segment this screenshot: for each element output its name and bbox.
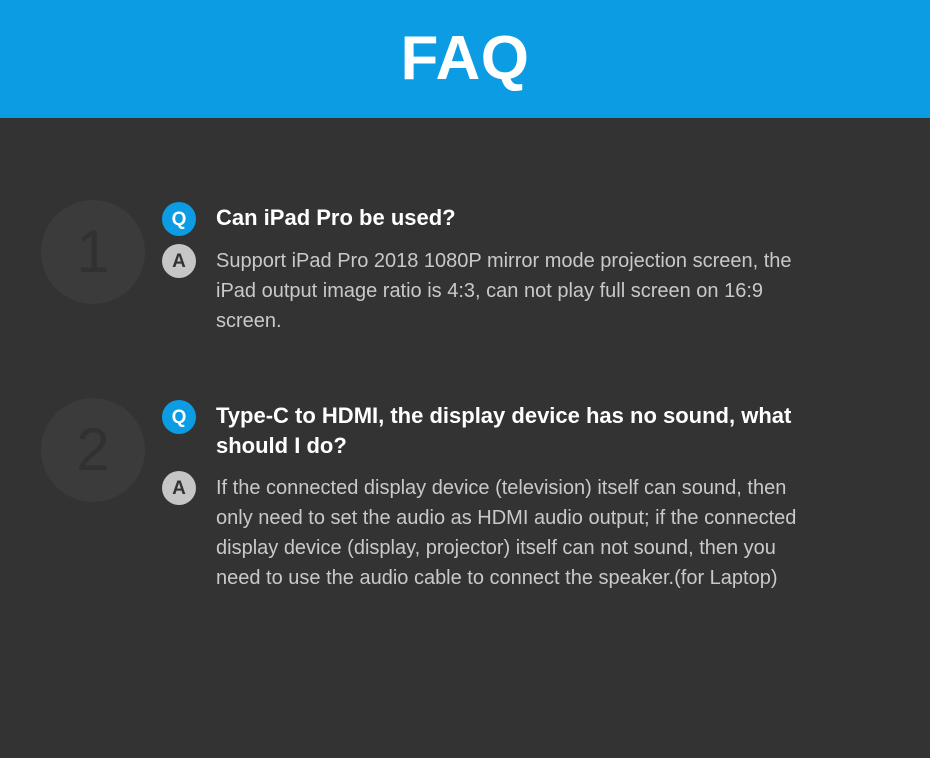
faq-answer-text: If the connected display device (televis… xyxy=(162,469,808,593)
faq-question-row[interactable]: Q Type-C to HDMI, the display device has… xyxy=(162,398,862,461)
faq-header-banner: FAQ xyxy=(0,0,930,118)
answer-badge-icon: A xyxy=(162,471,196,505)
question-badge-icon: Q xyxy=(162,400,196,434)
faq-question-text: Type-C to HDMI, the display device has n… xyxy=(162,398,862,461)
faq-index-circle: 2 xyxy=(41,398,145,502)
faq-qa-group: Q Can iPad Pro be used? A Support iPad P… xyxy=(162,200,862,336)
faq-question-text: Can iPad Pro be used? xyxy=(162,200,862,233)
answer-badge-icon: A xyxy=(162,244,196,278)
faq-question-row[interactable]: Q Can iPad Pro be used? xyxy=(162,200,862,234)
faq-qa-group: Q Type-C to HDMI, the display device has… xyxy=(162,398,862,593)
faq-page: FAQ 1 Q Can iPad Pro be used? A Support … xyxy=(0,0,930,758)
faq-body: 1 Q Can iPad Pro be used? A Support iPad… xyxy=(0,118,930,758)
faq-answer-row: A If the connected display device (telev… xyxy=(162,469,862,593)
faq-index-number: 1 xyxy=(76,222,109,282)
faq-index-number: 2 xyxy=(76,420,109,480)
faq-answer-row: A Support iPad Pro 2018 1080P mirror mod… xyxy=(162,242,862,336)
question-badge-icon: Q xyxy=(162,202,196,236)
faq-index-circle: 1 xyxy=(41,200,145,304)
faq-answer-text: Support iPad Pro 2018 1080P mirror mode … xyxy=(162,242,808,336)
page-title: FAQ xyxy=(401,28,530,90)
